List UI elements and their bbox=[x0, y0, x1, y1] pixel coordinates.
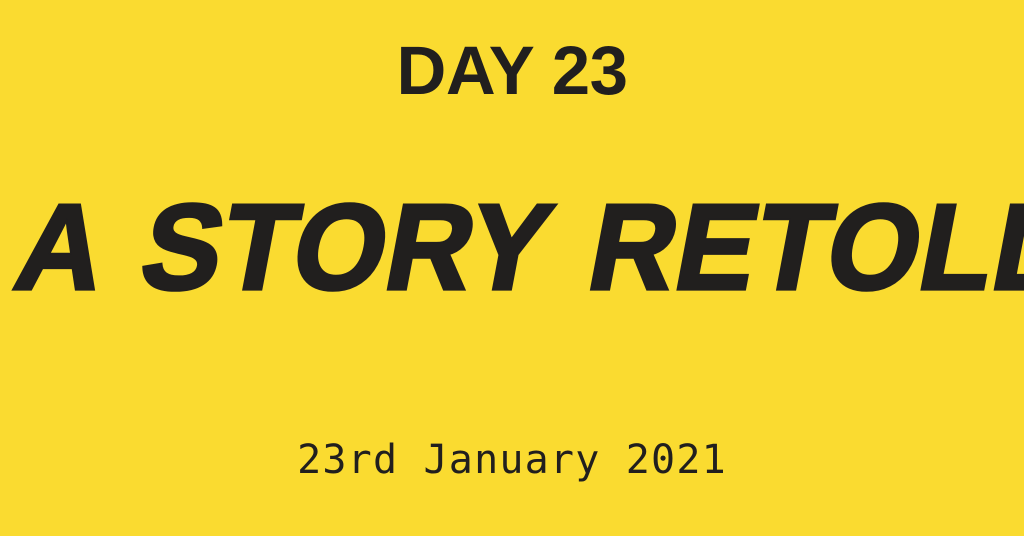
date-label: 23rd January 2021 bbox=[297, 440, 727, 480]
day-number-label: DAY 23 bbox=[396, 36, 627, 105]
eyebrow-row: DAY 23 bbox=[0, 36, 1024, 105]
date-row: 23rd January 2021 bbox=[0, 440, 1024, 480]
title-row: A STORY RETOLD bbox=[0, 186, 1024, 308]
page-title: A STORY RETOLD bbox=[7, 186, 1024, 308]
poster-canvas: DAY 23 A STORY RETOLD 23rd January 2021 bbox=[0, 0, 1024, 536]
